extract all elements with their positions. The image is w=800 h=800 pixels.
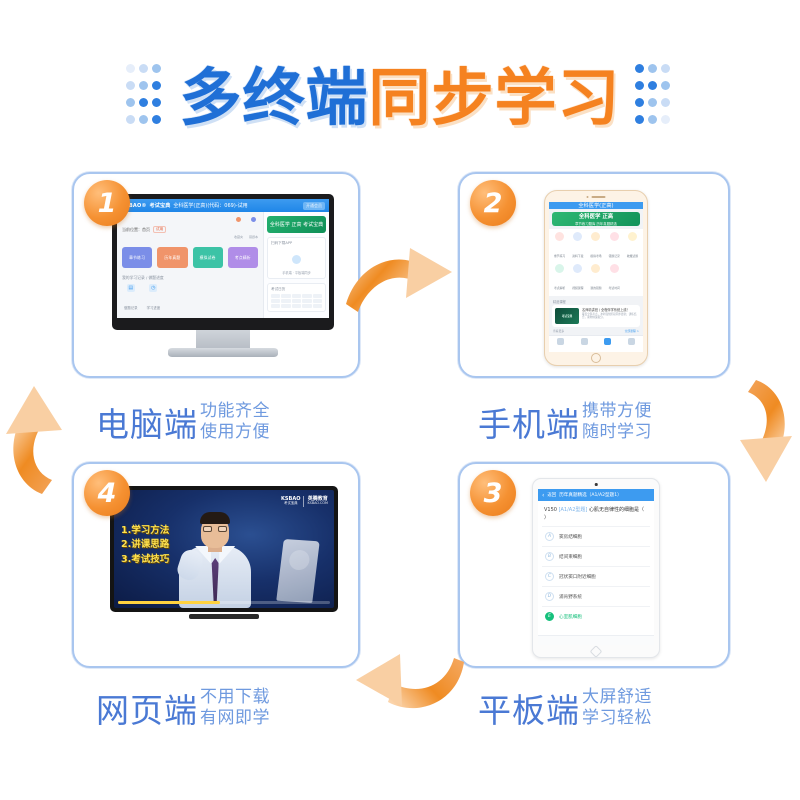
arrow-desktop-to-phone-icon <box>344 238 464 338</box>
option-text: 窦房结细胞 <box>559 534 582 540</box>
caption-line-2: 随时学习 <box>582 422 652 443</box>
desktop-monitor-illustration: KSBAO® 考试宝典 全科医学(正高)(代码：069)-试用 开通会员 当前位… <box>112 194 334 362</box>
phone-app-header: 全科医学(正高) <box>549 202 643 209</box>
caption-line-2: 学习轻松 <box>582 708 652 729</box>
module-card-chapter[interactable]: 章节练习 <box>122 247 152 268</box>
option-letter-c: C <box>545 572 554 581</box>
phone-more-row: 查看更多 全部课程 > <box>549 327 643 335</box>
course-meta: 名师精讲班 / 全程伴学系统上线！ 覆盖全科考点，冲刺强化阶段同步更新；讲练结合… <box>582 308 637 324</box>
video-line-3: 3.考试技巧 <box>121 553 169 567</box>
video-line-2: 2.讲课思路 <box>121 538 169 552</box>
breadcrumb: 当前位置：首页 试用 收藏夹 错题本 <box>122 217 258 242</box>
question-stem: V150 [A1/A2型题] 心肌无自律性的细胞是（ ） <box>538 501 654 526</box>
step-badge-1: 1 <box>84 180 130 226</box>
desktop-side-column: 全科医学 正高 考试宝典 扫码下载APP 手机端 · 平板端同步 考试日历 <box>263 212 329 318</box>
phone-screen: 全科医学(正高) 全科医学 正高 章节练习题库 历年真题精选 章节练习 资料下载… <box>549 202 643 352</box>
glasses-icon <box>203 526 227 532</box>
phone-nav-mine[interactable]: 我的 <box>620 338 644 352</box>
answer-option[interactable]: D 浦肯野系统 <box>542 586 650 606</box>
caption-small-web: 不用下载 有网即学 <box>200 687 270 728</box>
back-chevron-icon[interactable]: ‹ <box>542 492 544 499</box>
caption-desktop: 电脑端 功能齐全 使用方便 <box>96 398 270 446</box>
caption-line-1: 不用下载 <box>200 687 270 708</box>
tablet-illustration: ‹ 返回 历年真题精选（A1/A2型题1） V150 [A1/A2型题] 心肌无… <box>532 478 660 658</box>
option-text: 心室肌细胞 <box>559 614 582 620</box>
wrong-book-icon <box>251 217 256 222</box>
video-bezel: 1.学习方法 2.讲课思路 3.考试技巧 KSBAO 考试宝典 英腾教育 KSB… <box>110 486 338 612</box>
desktop-main-column: 当前位置：首页 试用 收藏夹 错题本 <box>117 212 263 318</box>
caption-phone: 手机端 携带方便 随时学习 <box>478 398 652 446</box>
step-badge-4: 4 <box>84 470 130 516</box>
progress-icon: ◷ <box>149 284 157 292</box>
back-label[interactable]: 返回 <box>547 492 556 498</box>
side-box-qr: 扫码下载APP 手机端 · 平板端同步 <box>267 237 326 279</box>
video-player-illustration: 1.学习方法 2.讲课思路 3.考试技巧 KSBAO 考试宝典 英腾教育 KSB… <box>110 486 338 622</box>
answer-options: A 窦房结细胞 B 结间束细胞 C 冠状窦口附近细胞 D 浦肯野系统 <box>538 526 654 626</box>
course-thumbnail: 考试宝典 <box>555 308 579 324</box>
desktop-mini-icons: ▤ 做题记录 ◷ 学习进度 <box>122 284 258 313</box>
tablet-camera-icon <box>595 483 598 486</box>
tablet-header-title: 历年真题精选（A1/A2型题1） <box>559 492 622 498</box>
video-progress-bar[interactable] <box>118 601 330 604</box>
phone-nav-home[interactable]: 首页 <box>549 338 573 352</box>
phone-grid-item[interactable]: 考点解析 <box>551 264 568 293</box>
toolbar-label-wrongbook[interactable]: 错题本 <box>249 235 258 239</box>
more-link[interactable]: 全部课程 > <box>625 329 639 333</box>
side-banner: 全科医学 正高 考试宝典 <box>267 216 326 233</box>
option-letter-b: B <box>545 552 554 561</box>
dot-grid-left-icon <box>126 64 165 132</box>
module-card-analysis[interactable]: 考点精析 <box>228 247 258 268</box>
phone-icon-grid: 章节练习 资料下载 模拟考场 错题记录 收藏试题 考点解析 视频课程 我的错题 … <box>549 229 643 296</box>
page-title: 多终端同步学习 <box>0 52 800 144</box>
caption-line-1: 大屏舒适 <box>582 687 652 708</box>
caption-line-1: 携带方便 <box>582 401 652 422</box>
watermark-yinteng: 英腾教育 KSBAO.COM <box>307 497 328 506</box>
step-badge-2: 2 <box>470 180 516 226</box>
answer-option[interactable]: A 窦房结细胞 <box>542 526 650 546</box>
mini-icon-progress[interactable]: ◷ 学习进度 <box>147 284 161 313</box>
section-label-progress: 我的学习记录 / 做题进度 <box>122 275 258 281</box>
video-overlay-text: 1.学习方法 2.讲课思路 3.考试技巧 <box>121 524 169 567</box>
option-letter-a: A <box>545 532 554 541</box>
desktop-module-cards: 章节练习 历年真题 模拟试卷 考点精析 <box>122 247 258 268</box>
phone-grid-label: 考试时间 <box>609 286 620 290</box>
course-desc: 覆盖全科考点，冲刺强化阶段同步更新；讲练结合，助你快速提分。 <box>582 313 637 320</box>
mini-icon-records[interactable]: ▤ 做题记录 <box>124 284 138 313</box>
answer-option-selected[interactable]: E 心室肌细胞 <box>542 606 650 626</box>
arrow-web-to-desktop-icon <box>0 372 95 497</box>
tablet-app-header: ‹ 返回 历年真题精选（A1/A2型题1） <box>538 489 654 501</box>
trial-pill-button[interactable]: 开通会员 <box>303 202 325 210</box>
monitor-screen: KSBAO® 考试宝典 全科医学(正高)(代码：069)-试用 开通会员 当前位… <box>117 199 329 318</box>
caption-line-2: 使用方便 <box>200 422 270 443</box>
video-screen: 1.学习方法 2.讲课思路 3.考试技巧 KSBAO 考试宝典 英腾教育 KSB… <box>114 490 334 608</box>
answer-option[interactable]: B 结间束细胞 <box>542 546 650 566</box>
phone-home-button[interactable] <box>591 353 601 363</box>
lectern-shape <box>276 539 319 603</box>
more-label: 查看更多 <box>553 329 564 333</box>
side-box-caption: 手机端 · 平板端同步 <box>271 270 322 275</box>
caption-small-phone: 携带方便 随时学习 <box>582 401 652 442</box>
phone-grid-label: 模拟考场 <box>590 254 601 258</box>
phone-nav-bank[interactable]: 题库 <box>573 338 597 352</box>
phone-section-label: 精品课程 <box>549 296 643 305</box>
phone-grid-item[interactable]: 模拟考场 <box>587 232 604 261</box>
tablet-home-button[interactable] <box>590 645 603 658</box>
side-box2-title: 考试日历 <box>271 287 322 292</box>
phone-course-card[interactable]: 考试宝典 名师精讲班 / 全程伴学系统上线！ 覆盖全科考点，冲刺强化阶段同步更新… <box>552 305 640 327</box>
title-blue-text: 多终端 <box>179 61 368 134</box>
course-title: 名师精讲班 / 全程伴学系统上线！ <box>582 308 637 312</box>
caption-line-2: 有网即学 <box>200 708 270 729</box>
video-stand <box>189 614 259 619</box>
caption-big-desktop: 电脑端 <box>96 398 198 446</box>
desktop-app-header: KSBAO® 考试宝典 全科医学(正高)(代码：069)-试用 开通会员 <box>117 199 329 212</box>
ksbao-logo-cn: 考试宝典 <box>150 202 171 209</box>
watermark-yinteng-sub: KSBAO.COM <box>307 502 328 506</box>
caption-line-1: 功能齐全 <box>200 401 270 422</box>
dot-grid-right-icon <box>635 64 674 132</box>
toolbar-label-favorites[interactable]: 收藏夹 <box>234 235 243 239</box>
phone-bottom-nav: 首页 题库 课程 我的 <box>549 335 643 352</box>
arrow-tablet-to-web-icon <box>336 640 466 735</box>
phone-banner: 全科医学 正高 章节练习题库 历年真题精选 <box>552 212 640 226</box>
phone-illustration: 全科医学(正高) 全科医学 正高 章节练习题库 历年真题精选 章节练习 资料下载… <box>544 190 648 366</box>
qr-code-icon <box>271 248 322 270</box>
tablet-footer-bar <box>538 635 654 645</box>
caption-small-desktop: 功能齐全 使用方便 <box>200 401 270 442</box>
phone-grid-item[interactable]: 收藏试题 <box>624 232 641 261</box>
phone-grid-item[interactable]: 我的错题 <box>587 264 604 293</box>
option-text: 冠状窦口附近细胞 <box>559 574 596 580</box>
question-number: V150 <box>544 507 557 513</box>
logo-divider <box>303 496 304 507</box>
phone-grid-label: 考点解析 <box>554 286 565 290</box>
phone-grid-label: 章节练习 <box>554 254 565 258</box>
title-orange-text: 同步学习 <box>369 61 621 134</box>
option-text: 结间束细胞 <box>559 554 582 560</box>
video-line-1: 1.学习方法 <box>121 524 169 538</box>
step-badge-3: 3 <box>470 470 516 516</box>
caption-big-web: 网页端 <box>96 684 198 732</box>
phone-grid-label: 错题记录 <box>609 254 620 258</box>
phone-grid-label: 资料下载 <box>572 254 583 258</box>
side-box-calendar: 考试日历 <box>267 283 326 312</box>
caption-big-phone: 手机端 <box>478 398 580 446</box>
mini-icon-label-records: 做题记录 <box>124 306 138 310</box>
breadcrumb-text: 当前位置：首页 <box>122 227 150 233</box>
phone-grid-item[interactable]: 考试时间 <box>606 264 623 293</box>
module-card-mock[interactable]: 模拟试卷 <box>193 247 223 268</box>
caption-web: 网页端 不用下载 有网即学 <box>96 684 270 732</box>
watermark-ksbao-sub: 考试宝典 <box>281 502 300 506</box>
records-icon: ▤ <box>127 284 135 292</box>
lecturer-figure <box>177 512 253 608</box>
mini-icon-label-progress: 学习进度 <box>147 306 161 310</box>
monitor-base <box>168 348 278 357</box>
course-thumb-label: 考试宝典 <box>562 314 572 318</box>
question-type: [A1/A2型题] <box>559 507 588 513</box>
favorites-icon <box>236 217 241 222</box>
arrow-phone-to-tablet-icon <box>700 378 800 498</box>
phone-grid-label: 我的错题 <box>590 286 601 290</box>
option-letter-d: D <box>545 592 554 601</box>
phone-banner-sub: 章节练习题库 历年真题精选 <box>575 221 617 226</box>
phone-banner-main: 全科医学 正高 <box>579 212 613 220</box>
phone-nav-course[interactable]: 课程 <box>596 338 620 352</box>
monitor-bezel: KSBAO® 考试宝典 全科医学(正高)(代码：069)-试用 开通会员 当前位… <box>112 194 334 330</box>
phone-grid-item[interactable]: 错题记录 <box>606 232 623 261</box>
caption-small-tablet: 大屏舒适 学习轻松 <box>582 687 652 728</box>
option-text: 浦肯野系统 <box>559 594 582 600</box>
phone-grid-spacer <box>624 264 641 293</box>
phone-grid-item[interactable]: 视频课程 <box>569 264 586 293</box>
phone-notch <box>587 196 606 198</box>
desktop-app-body: 当前位置：首页 试用 收藏夹 错题本 <box>117 212 329 318</box>
caption-tablet: 平板端 大屏舒适 学习轻松 <box>478 684 652 732</box>
promo-infographic: 多终端同步学习 KSBAO® 考试宝典 全科医学(正高)(代码：069)-试用 … <box>0 0 800 800</box>
desktop-app-title: 全科医学(正高)(代码：069)-试用 <box>173 202 247 209</box>
breadcrumb-tag: 试用 <box>153 226 166 233</box>
side-box-title: 扫码下载APP <box>271 241 322 246</box>
option-letter-e: E <box>545 612 554 621</box>
monitor-stand <box>196 330 250 350</box>
calendar-grid-icon <box>271 294 322 308</box>
phone-grid-item[interactable]: 章节练习 <box>551 232 568 261</box>
answer-option[interactable]: C 冠状窦口附近细胞 <box>542 566 650 586</box>
phone-grid-label: 视频课程 <box>572 286 583 290</box>
tablet-screen: ‹ 返回 历年真题精选（A1/A2型题1） V150 [A1/A2型题] 心肌无… <box>538 489 654 645</box>
watermark-ksbao: KSBAO 考试宝典 <box>281 497 300 506</box>
phone-grid-item[interactable]: 资料下载 <box>569 232 586 261</box>
caption-big-tablet: 平板端 <box>478 684 580 732</box>
module-card-pastpapers[interactable]: 历年真题 <box>157 247 187 268</box>
video-watermark-logo: KSBAO 考试宝典 英腾教育 KSBAO.COM <box>281 496 328 507</box>
phone-grid-label: 收藏试题 <box>627 254 638 258</box>
